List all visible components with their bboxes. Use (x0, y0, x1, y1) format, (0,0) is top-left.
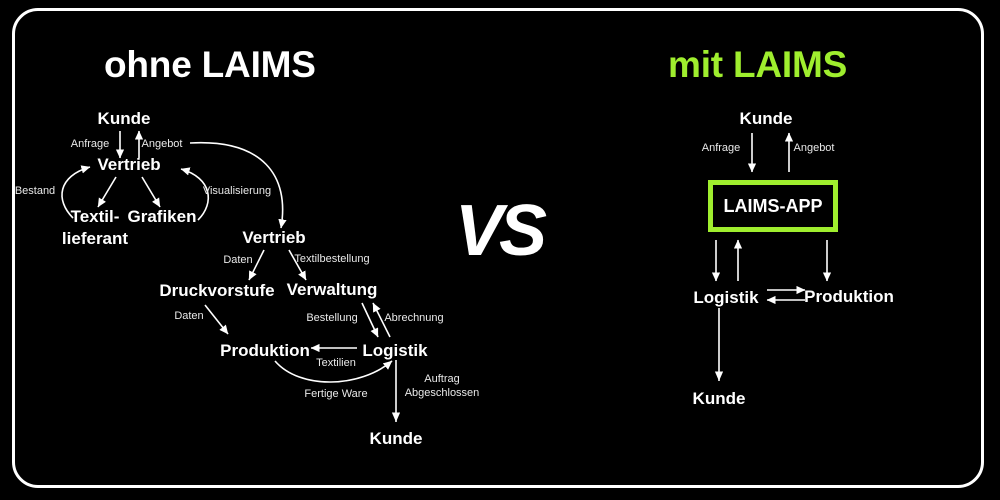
label-angebot-right: Angebot (794, 142, 835, 154)
node-kunde-top-right: Kunde (740, 109, 793, 128)
laims-app-box[interactable]: LAIMS-APP (708, 180, 838, 232)
label-anfrage-right: Anfrage (702, 142, 741, 154)
laims-app-label: LAIMS-APP (724, 196, 823, 217)
node-kunde-bottom-right: Kunde (693, 389, 746, 408)
node-produktion-right: Produktion (804, 287, 894, 306)
right-flow-diagram: Kunde Logistik Produktion Kunde Anfrage … (0, 0, 1000, 500)
node-logistik-right: Logistik (693, 288, 759, 307)
diagram-canvas: ohne LAIMS mit LAIMS VS (0, 0, 1000, 500)
